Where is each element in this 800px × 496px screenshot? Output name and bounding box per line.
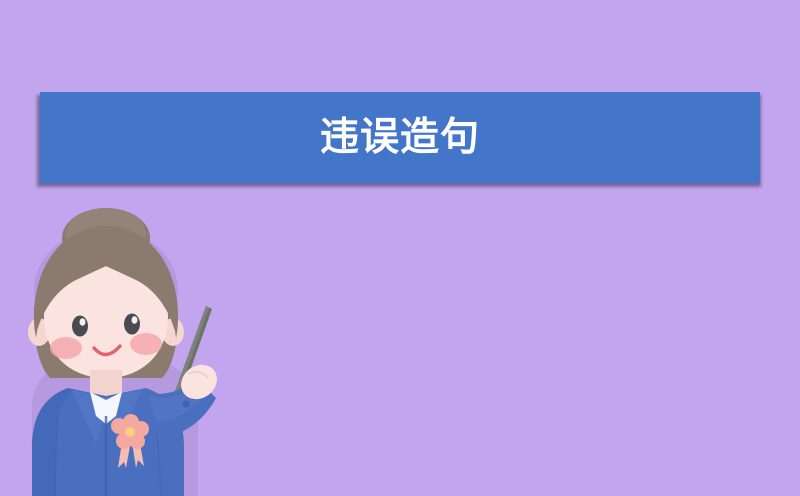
title-banner: 违误造句 xyxy=(40,92,760,183)
page-title: 违误造句 xyxy=(320,118,480,157)
page-canvas: 违误造句 xyxy=(0,0,800,496)
teacher-illustration xyxy=(10,210,270,496)
